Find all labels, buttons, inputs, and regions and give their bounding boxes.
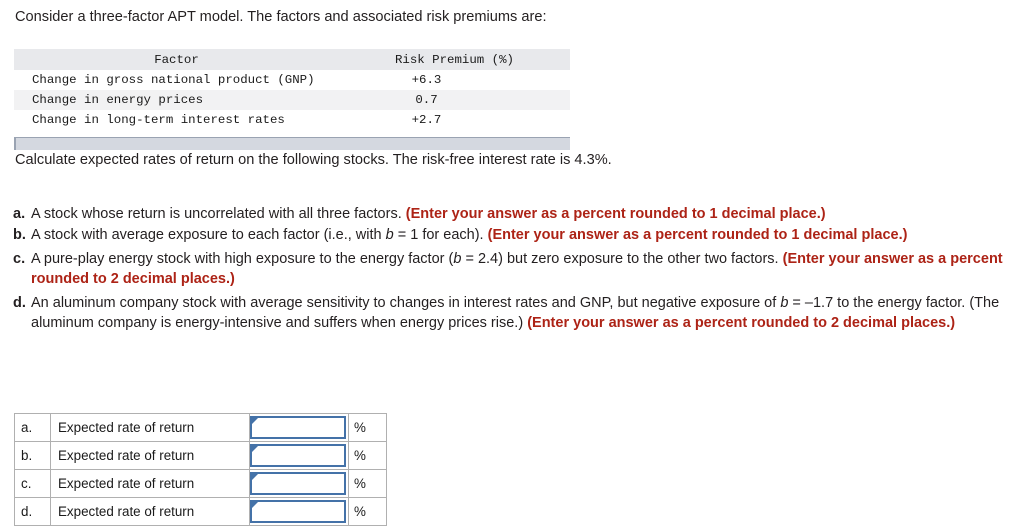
answer-table-container: a. Expected rate of return % b. Expected… xyxy=(14,413,387,526)
question-body-b-post: = 1 for each). xyxy=(394,227,484,243)
answer-row-letter-a: a. xyxy=(15,414,51,442)
answer-input-cell-b[interactable] xyxy=(250,442,349,470)
question-marker-c: c. xyxy=(13,250,25,270)
answer-row-label-c: Expected rate of return xyxy=(51,470,250,498)
answer-input-cell-a[interactable] xyxy=(250,414,349,442)
table-row: c. Expected rate of return % xyxy=(15,470,387,498)
answer-table: a. Expected rate of return % b. Expected… xyxy=(14,413,387,526)
answer-input-box-d[interactable] xyxy=(250,500,346,523)
answer-row-letter-d: d. xyxy=(15,498,51,526)
question-list: a. A stock whose return is uncorrelated … xyxy=(13,205,1018,335)
risk-premium-column-header: Risk Premium (%) xyxy=(339,49,570,70)
answer-row-label-b: Expected rate of return xyxy=(51,442,250,470)
answer-input-cell-d[interactable] xyxy=(250,498,349,526)
factor-name-cell: Change in gross national product (GNP) xyxy=(14,70,339,90)
question-body-d-pre: An aluminum company stock with average s… xyxy=(31,295,780,311)
table-row: Change in gross national product (GNP) +… xyxy=(14,70,570,90)
answer-input-d[interactable] xyxy=(252,502,344,521)
answer-table-body: a. Expected rate of return % b. Expected… xyxy=(15,414,387,526)
question-marker-b: b. xyxy=(13,226,26,246)
factor-column-header: Factor xyxy=(14,49,339,70)
factor-table: Factor Risk Premium (%) Change in gross … xyxy=(14,49,570,130)
risk-premium-cell: +2.7 xyxy=(339,110,570,130)
factor-table-head: Factor Risk Premium (%) xyxy=(14,49,570,70)
answer-row-label-d: Expected rate of return xyxy=(51,498,250,526)
factor-name-cell: Change in energy prices xyxy=(14,90,339,110)
answer-input-a[interactable] xyxy=(252,418,344,437)
question-marker-d: d. xyxy=(13,294,26,314)
question-item-b: b. A stock with average exposure to each… xyxy=(13,226,1018,246)
factor-table-container: Factor Risk Premium (%) Change in gross … xyxy=(14,49,570,150)
answer-input-box-a[interactable] xyxy=(250,416,346,439)
factor-table-footer-bar xyxy=(14,137,570,150)
risk-premium-cell: 0.7 xyxy=(339,90,570,110)
calculate-instruction-text: Calculate expected rates of return on th… xyxy=(15,151,612,169)
question-body-a: A stock whose return is uncorrelated wit… xyxy=(31,206,402,222)
answer-input-cell-c[interactable] xyxy=(250,470,349,498)
question-item-d: d. An aluminum company stock with averag… xyxy=(13,294,1018,333)
question-hint-a: (Enter your answer as a percent rounded … xyxy=(406,206,826,222)
answer-row-label-a: Expected rate of return xyxy=(51,414,250,442)
answer-unit-a: % xyxy=(349,414,387,442)
intro-text: Consider a three-factor APT model. The f… xyxy=(15,8,547,26)
question-body-b-pre: A stock with average exposure to each fa… xyxy=(31,227,386,243)
answer-input-box-b[interactable] xyxy=(250,444,346,467)
answer-input-b[interactable] xyxy=(252,446,344,465)
table-row: Change in energy prices 0.7 xyxy=(14,90,570,110)
factor-table-header-row: Factor Risk Premium (%) xyxy=(14,49,570,70)
factor-table-body: Change in gross national product (GNP) +… xyxy=(14,70,570,130)
table-row: b. Expected rate of return % xyxy=(15,442,387,470)
table-row: d. Expected rate of return % xyxy=(15,498,387,526)
question-variable-b: b xyxy=(386,227,394,243)
answer-unit-b: % xyxy=(349,442,387,470)
answer-input-c[interactable] xyxy=(252,474,344,493)
answer-unit-c: % xyxy=(349,470,387,498)
answer-unit-d: % xyxy=(349,498,387,526)
risk-premium-cell: +6.3 xyxy=(339,70,570,90)
question-hint-d: (Enter your answer as a percent rounded … xyxy=(527,315,955,331)
answer-row-letter-b: b. xyxy=(15,442,51,470)
table-row: a. Expected rate of return % xyxy=(15,414,387,442)
question-body-c-post: = 2.4) but zero exposure to the other tw… xyxy=(461,251,778,267)
question-item-a: a. A stock whose return is uncorrelated … xyxy=(13,205,1018,225)
factor-name-cell: Change in long-term interest rates xyxy=(14,110,339,130)
answer-input-box-c[interactable] xyxy=(250,472,346,495)
answer-row-letter-c: c. xyxy=(15,470,51,498)
table-row: Change in long-term interest rates +2.7 xyxy=(14,110,570,130)
question-hint-b: (Enter your answer as a percent rounded … xyxy=(488,227,908,243)
question-item-c: c. A pure-play energy stock with high ex… xyxy=(13,250,1018,289)
question-marker-a: a. xyxy=(13,205,25,225)
question-body-c-pre: A pure-play energy stock with high expos… xyxy=(31,251,453,267)
